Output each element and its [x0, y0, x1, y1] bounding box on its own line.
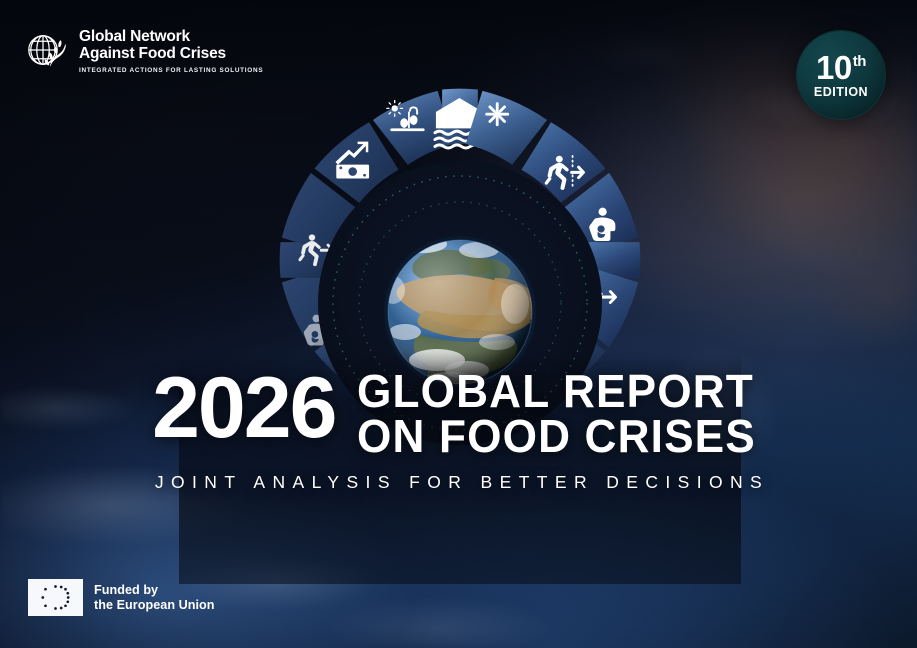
- edition-ordinal: th: [853, 54, 866, 69]
- edition-number-group: 10th: [816, 52, 866, 83]
- edition-badge: 10th EDITION: [797, 31, 885, 119]
- eu-flag-icon: [28, 579, 83, 616]
- report-title-line2: ON FOOD CRISES: [357, 414, 756, 459]
- report-year: 2026: [152, 366, 335, 450]
- edition-number: 10: [816, 52, 852, 83]
- wheel-svg: [179, 22, 741, 584]
- crisis-drivers-wheel: [179, 22, 741, 584]
- report-cover: Global Network Against Food Crises INTEG…: [0, 0, 917, 648]
- cover-title-block: 2026 GLOBAL REPORT ON FOOD CRISES JOINT …: [0, 366, 917, 493]
- edition-label: EDITION: [814, 86, 868, 99]
- eu-funding-logo: Funded by the European Union: [28, 579, 215, 616]
- globe-wheat-icon: [24, 27, 70, 73]
- eu-funding-line1: Funded by: [94, 583, 215, 598]
- eu-funding-line2: the European Union: [94, 598, 215, 613]
- report-title-line1: GLOBAL REPORT: [357, 369, 756, 414]
- report-subtitle: JOINT ANALYSIS FOR BETTER DECISIONS: [0, 472, 917, 493]
- conflict-icon: [487, 104, 508, 125]
